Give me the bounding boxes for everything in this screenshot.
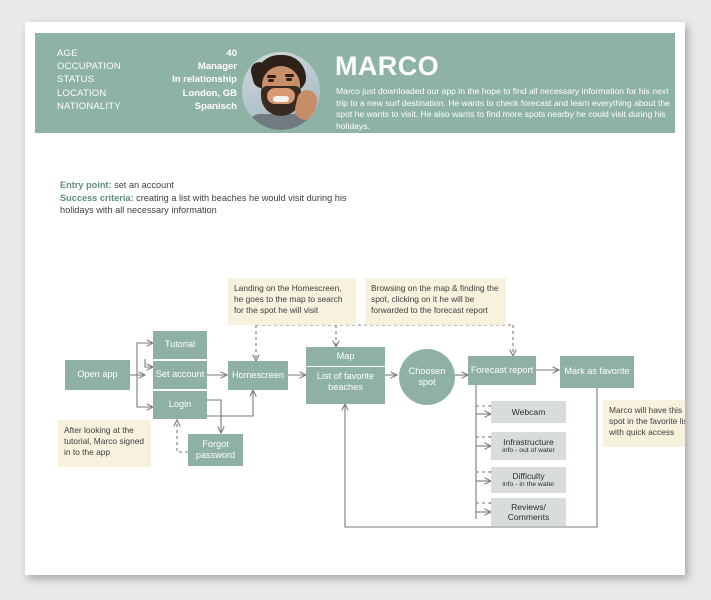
node-homescreen[interactable]: Homescreen [228, 361, 288, 390]
node-open-app[interactable]: Open app [65, 360, 130, 390]
note-map: Browsing on the map & finding the spot, … [365, 278, 506, 325]
node-forgot-password[interactable]: Forgot password [188, 434, 243, 466]
node-label: Forecast report [471, 365, 533, 377]
subitem-title: Infrastructure [503, 437, 554, 448]
node-login[interactable]: Login [153, 391, 207, 419]
note-homescreen: Landing on the Homescreen, he goes to th… [228, 278, 356, 325]
node-set-account[interactable]: Set account [153, 361, 207, 389]
subitem-webcam[interactable]: Webcam [491, 401, 566, 423]
subitem-detail: Comments [508, 512, 550, 523]
subitem-title: Webcam [512, 407, 546, 418]
node-label: Homescreen [232, 370, 284, 382]
node-label: Tutorial [165, 339, 195, 351]
subitem-infrastructure[interactable]: Infrastructure info - out of water [491, 432, 566, 460]
subitem-title: Difficulty [512, 471, 544, 482]
note-favorite-quick-access: Marco will have this spot in the favorit… [603, 400, 685, 447]
node-label: Set account [156, 369, 205, 381]
subitem-title: Reviews/ [511, 502, 546, 513]
node-label-map: Map [306, 347, 385, 366]
node-mark-as-favorite[interactable]: Mark as favorite [560, 356, 634, 388]
persona-journey-page: AGE 40 OCCUPATION Manager STATUS In rela… [25, 22, 685, 575]
node-label: Mark as favorite [564, 366, 629, 378]
node-forecast-report[interactable]: Forecast report [468, 356, 536, 385]
subitem-difficulty[interactable]: Difficulty info - in the water [491, 467, 566, 493]
node-label: Choosen spot [399, 366, 455, 389]
node-label: Forgot password [188, 439, 243, 462]
subitem-detail: info - out of water [502, 447, 555, 456]
node-tutorial[interactable]: Tutorial [153, 331, 207, 359]
subitem-detail: info - in the water [502, 481, 554, 490]
flow-diagram: Open app Tutorial Set account Login Forg… [25, 22, 685, 575]
node-label: Open app [77, 369, 117, 381]
node-label: Login [169, 399, 191, 411]
subitem-reviews-comments[interactable]: Reviews/ Comments [491, 498, 566, 526]
node-label-favorite-beaches: List of favorite beaches [306, 367, 385, 397]
node-choosen-spot[interactable]: Choosen spot [399, 349, 455, 405]
note-tutorial-signin: After looking at the tutorial, Marco sig… [58, 420, 151, 467]
node-map-favorites[interactable]: Map List of favorite beaches [306, 347, 385, 404]
